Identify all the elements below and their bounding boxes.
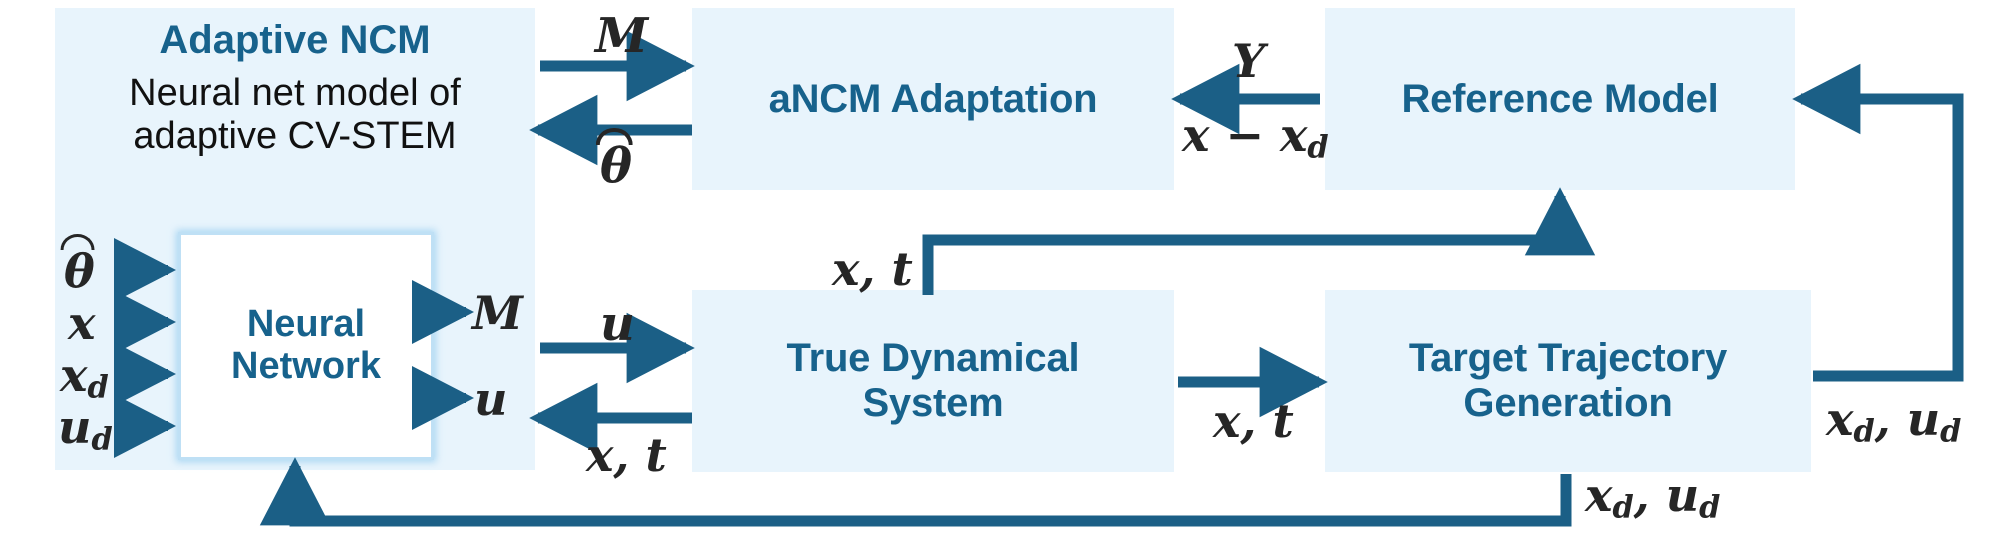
neural-network-box[interactable]: Neural Network <box>178 232 434 460</box>
nn-input-theta-hat: θ <box>64 248 95 294</box>
edge-label-xd-ud-right: xd, ud <box>1826 396 1961 447</box>
ancm-adaptation-block[interactable]: aNCM Adaptation <box>692 8 1174 190</box>
theta-hat-glyph-edge: θ <box>600 142 632 190</box>
tds-line2: System <box>862 381 1003 425</box>
tds-line1: True Dynamical <box>787 336 1080 380</box>
edge-label-xt-branch: x, t <box>832 246 913 292</box>
theta-hat-glyph: θ <box>64 248 95 294</box>
edge-label-M-top: M <box>595 12 648 60</box>
adaptive-ncm-title: Adaptive NCM <box>55 18 535 63</box>
wire-target-to-ncm <box>295 466 1566 521</box>
edge-label-x-minus-xd: x − xd <box>1182 112 1329 163</box>
ttg-line2: Generation <box>1463 381 1672 425</box>
adaptive-ncm-subtitle: Neural net model of adaptive CV-STEM <box>55 72 535 157</box>
wire-system-branch-to-refmodel <box>928 196 1560 295</box>
edge-label-theta-hat: θ <box>600 142 632 190</box>
reference-model-block[interactable]: Reference Model <box>1325 8 1795 190</box>
diagram-canvas: Adaptive NCM Neural net model of adaptiv… <box>0 0 2000 534</box>
nn-output-M: M <box>472 290 523 336</box>
edge-label-xt-system-to-target: x, t <box>1213 398 1294 444</box>
true-dynamical-system-block[interactable]: True Dynamical System <box>692 290 1174 472</box>
nn-input-ud: ud <box>58 404 113 455</box>
nn-input-x: x <box>68 300 95 346</box>
wire-target-to-refmodel <box>1801 99 1958 376</box>
edge-label-xt-system-to-nn: x, t <box>586 432 667 478</box>
target-trajectory-label: Target Trajectory Generation <box>1409 336 1727 426</box>
reference-model-label: Reference Model <box>1401 77 1718 122</box>
adaptive-ncm-subtitle-line2: adaptive CV-STEM <box>55 115 535 158</box>
edge-label-u-mid: u <box>600 300 635 348</box>
nn-input-xd: xd <box>60 352 109 403</box>
ttg-line1: Target Trajectory <box>1409 336 1727 380</box>
target-trajectory-block[interactable]: Target Trajectory Generation <box>1325 290 1811 472</box>
true-dynamical-system-label: True Dynamical System <box>787 336 1080 426</box>
neural-network-label-line1: Neural <box>231 304 381 346</box>
adaptive-ncm-subtitle-line1: Neural net model of <box>55 72 535 115</box>
ancm-adaptation-label: aNCM Adaptation <box>769 77 1098 122</box>
edge-label-Y: Y <box>1232 38 1265 84</box>
nn-output-u: u <box>474 376 507 422</box>
neural-network-label-line2: Network <box>231 346 381 388</box>
edge-label-xd-ud-bottom: xd, ud <box>1585 472 1720 523</box>
neural-network-label: Neural Network <box>231 304 381 388</box>
